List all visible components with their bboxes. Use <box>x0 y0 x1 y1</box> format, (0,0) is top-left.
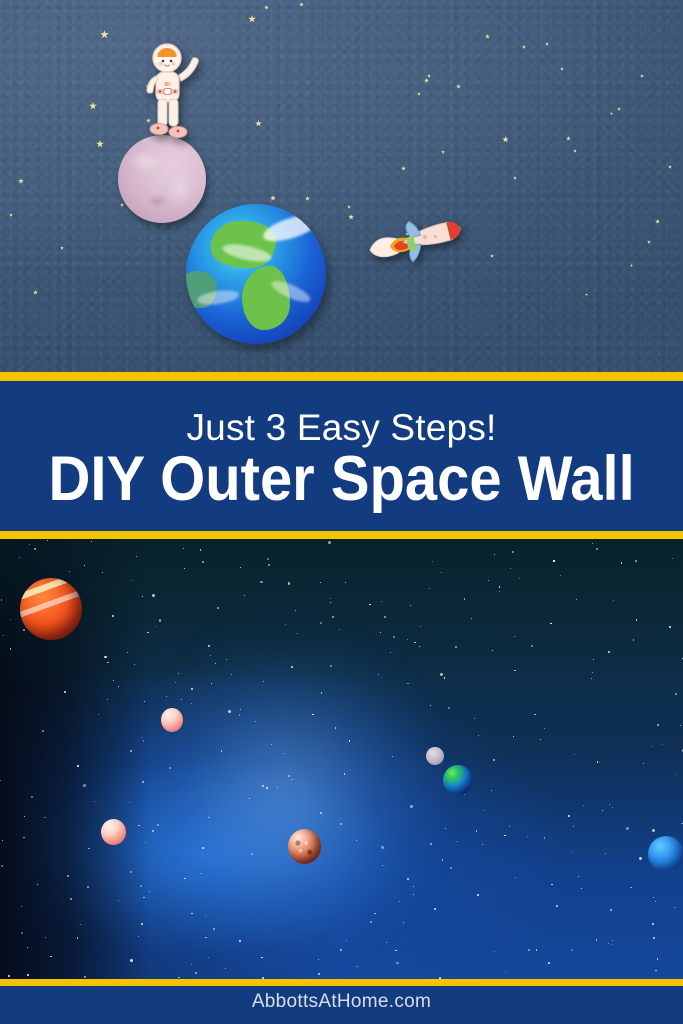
star-decal <box>640 74 644 78</box>
star <box>492 650 493 651</box>
star <box>184 568 185 569</box>
star <box>653 897 654 898</box>
star <box>544 728 545 729</box>
star-decal <box>560 67 564 71</box>
star <box>635 560 637 562</box>
star <box>403 922 404 923</box>
star-decal <box>305 196 310 201</box>
star-decal <box>120 203 124 207</box>
star <box>548 962 550 964</box>
star <box>27 974 29 976</box>
star <box>556 905 558 907</box>
star <box>195 972 197 974</box>
star <box>639 857 642 860</box>
star <box>312 714 313 715</box>
star <box>527 836 528 837</box>
star <box>291 779 292 780</box>
star <box>142 781 143 782</box>
star <box>356 840 357 841</box>
star <box>215 663 216 664</box>
star <box>335 727 336 728</box>
star <box>643 763 644 764</box>
star <box>266 787 268 789</box>
star <box>157 824 159 826</box>
moon-decal <box>118 135 206 223</box>
star <box>261 957 262 958</box>
star <box>320 812 322 814</box>
star <box>184 878 185 879</box>
star <box>494 554 495 555</box>
star <box>10 619 11 620</box>
star <box>381 846 384 849</box>
star <box>407 878 409 880</box>
star <box>396 962 399 965</box>
star <box>674 907 675 908</box>
star <box>531 645 533 647</box>
star <box>410 805 413 808</box>
star <box>583 805 584 806</box>
planet-jupiter <box>20 578 82 640</box>
star <box>610 909 612 911</box>
star <box>636 619 637 620</box>
star-decal <box>610 112 613 115</box>
star <box>104 656 107 659</box>
star <box>568 815 570 817</box>
star <box>514 636 515 637</box>
star-decal <box>270 195 276 201</box>
star <box>255 721 256 722</box>
star <box>611 944 612 945</box>
star-decal <box>89 102 97 110</box>
star <box>208 957 209 958</box>
star <box>205 937 206 938</box>
star <box>330 598 331 599</box>
star <box>155 626 156 627</box>
star <box>407 639 408 640</box>
star <box>21 932 23 934</box>
star <box>239 714 240 715</box>
star <box>69 571 70 572</box>
star <box>37 884 38 885</box>
star-decal <box>299 2 304 7</box>
star <box>413 886 414 887</box>
star <box>262 785 264 787</box>
pinterest-pin-graphic: Just 3 Easy Steps! DIY Outer Space Wall <box>0 0 683 1024</box>
star <box>544 837 545 838</box>
star <box>175 682 176 683</box>
star <box>571 852 572 853</box>
star <box>675 774 676 775</box>
planet-mars <box>288 829 321 864</box>
star <box>445 828 446 829</box>
star <box>493 759 495 761</box>
star-decal <box>502 136 509 143</box>
star <box>27 947 28 948</box>
star <box>295 610 296 611</box>
star <box>178 673 179 674</box>
star <box>429 588 430 589</box>
banner-bottom-rule <box>0 531 683 539</box>
star <box>448 707 450 709</box>
star <box>318 959 319 960</box>
star <box>134 664 135 665</box>
star <box>515 877 516 878</box>
star-decal <box>513 176 517 180</box>
star <box>91 541 92 542</box>
star <box>514 670 515 671</box>
star <box>651 746 652 747</box>
star <box>633 639 634 640</box>
star <box>251 853 253 855</box>
banner-top-rule <box>0 372 683 381</box>
star <box>578 876 579 877</box>
star <box>142 596 143 597</box>
star <box>597 761 598 762</box>
banner-subtitle: Just 3 Easy Steps! <box>186 409 496 446</box>
star-decal <box>248 15 256 23</box>
star <box>512 551 514 553</box>
star <box>430 843 432 845</box>
star <box>1 865 3 867</box>
star <box>442 859 443 860</box>
star <box>263 681 264 682</box>
star <box>370 921 372 923</box>
star <box>226 659 227 660</box>
star <box>130 750 132 752</box>
star <box>382 865 383 866</box>
star <box>8 975 10 977</box>
star <box>346 940 347 941</box>
star <box>112 615 114 617</box>
star <box>652 829 655 832</box>
star-decal <box>401 166 406 171</box>
star-decal <box>427 74 431 78</box>
star <box>499 586 500 587</box>
star <box>380 632 381 633</box>
star <box>10 648 11 649</box>
star-decal <box>60 246 64 250</box>
star <box>67 875 69 877</box>
star-decal <box>655 219 660 224</box>
star <box>138 825 139 826</box>
astronaut-decal <box>140 42 200 140</box>
star <box>574 754 575 755</box>
planet-moon-small <box>426 747 444 765</box>
star <box>244 595 245 596</box>
star <box>680 725 681 726</box>
star <box>21 906 22 907</box>
star <box>630 887 631 888</box>
star-decal <box>441 150 445 154</box>
star-decal <box>566 136 571 141</box>
star <box>320 622 322 624</box>
mural-starfield <box>0 539 683 979</box>
star <box>675 693 677 695</box>
star <box>450 867 452 869</box>
star <box>31 796 33 798</box>
star <box>45 937 46 938</box>
star-decal <box>33 290 38 295</box>
star <box>528 949 530 951</box>
star <box>143 897 144 898</box>
star <box>181 699 182 700</box>
star <box>505 972 506 973</box>
star <box>393 636 395 638</box>
star <box>288 582 291 585</box>
star-decal <box>617 107 621 111</box>
star-decal <box>668 165 672 169</box>
star <box>536 949 537 950</box>
star <box>657 724 659 726</box>
star <box>392 756 393 757</box>
star <box>80 924 81 925</box>
star <box>395 950 396 951</box>
star <box>410 605 411 606</box>
planet-pink-1 <box>161 708 183 732</box>
star-decal <box>545 42 549 46</box>
footer-bar: AbbottsAtHome.com <box>0 979 683 1024</box>
star <box>0 780 1 781</box>
star <box>191 964 192 965</box>
star <box>24 816 25 817</box>
star <box>217 607 219 609</box>
star <box>553 560 554 561</box>
star <box>143 740 144 741</box>
star <box>318 973 320 975</box>
star <box>345 582 346 583</box>
star <box>130 959 133 962</box>
star <box>132 580 133 581</box>
footer-top-rule <box>0 979 683 986</box>
star <box>107 699 108 700</box>
star <box>504 835 505 836</box>
star <box>441 572 442 573</box>
star <box>399 901 400 902</box>
star-decal <box>100 30 109 39</box>
star <box>84 565 85 566</box>
star <box>471 618 472 619</box>
star <box>540 739 541 740</box>
star-decal <box>348 214 354 220</box>
star <box>47 540 48 541</box>
star <box>328 541 331 544</box>
star <box>420 626 421 627</box>
star-decal <box>647 240 651 244</box>
star <box>413 894 414 895</box>
star <box>386 942 387 943</box>
star <box>474 718 475 719</box>
star <box>655 970 656 971</box>
star <box>130 871 132 873</box>
star <box>29 544 30 545</box>
star <box>228 710 231 713</box>
star-decal <box>585 293 588 296</box>
star <box>374 913 375 914</box>
star <box>239 940 241 942</box>
star <box>340 949 342 951</box>
star <box>339 629 340 630</box>
star <box>191 913 192 914</box>
star <box>440 673 443 676</box>
star <box>332 616 334 618</box>
star <box>70 898 72 900</box>
star <box>609 804 610 805</box>
star <box>211 683 212 684</box>
star <box>141 923 143 925</box>
star <box>652 923 654 925</box>
star <box>621 562 622 563</box>
title-banner: Just 3 Easy Steps! DIY Outer Space Wall <box>0 372 683 539</box>
star <box>499 591 500 592</box>
star-decal <box>630 264 633 267</box>
star <box>519 578 520 579</box>
star <box>145 842 146 843</box>
star <box>407 683 408 684</box>
star-decal <box>347 205 351 209</box>
star <box>477 894 479 896</box>
star <box>50 956 51 957</box>
star <box>147 632 148 633</box>
planet-pink-2 <box>101 819 126 845</box>
star-decal <box>255 120 262 127</box>
star <box>513 736 514 737</box>
star-decal <box>485 34 490 39</box>
star-decal <box>490 254 494 258</box>
star <box>3 635 4 636</box>
star-decal-group <box>0 0 683 372</box>
star <box>662 744 663 745</box>
star <box>149 891 150 892</box>
star <box>83 784 86 787</box>
star <box>208 645 210 647</box>
star <box>681 823 682 824</box>
star <box>23 629 25 631</box>
star <box>107 662 108 663</box>
banner-headline: DIY Outer Space Wall <box>48 448 634 511</box>
star <box>118 686 119 687</box>
star <box>77 765 78 766</box>
star <box>384 616 386 618</box>
star <box>169 767 171 769</box>
star <box>118 900 119 901</box>
star <box>592 543 593 544</box>
star <box>390 652 391 653</box>
star <box>260 581 263 584</box>
star <box>551 884 552 885</box>
star <box>77 937 78 938</box>
star-decal <box>424 78 429 83</box>
star <box>432 561 433 562</box>
star <box>491 790 492 791</box>
earth-decal <box>186 204 326 344</box>
star <box>268 564 269 565</box>
star <box>231 674 232 675</box>
star <box>457 841 458 842</box>
star <box>626 827 629 830</box>
star <box>672 558 673 559</box>
star <box>183 548 184 549</box>
star <box>488 580 489 581</box>
star <box>191 703 192 704</box>
star <box>349 740 350 741</box>
star <box>444 677 445 678</box>
star <box>166 696 167 697</box>
star <box>267 558 269 560</box>
star <box>344 773 345 774</box>
star <box>602 810 603 811</box>
star <box>340 823 342 825</box>
star <box>320 582 321 583</box>
star <box>596 939 597 940</box>
star <box>657 958 658 959</box>
star <box>87 886 89 888</box>
star <box>430 705 431 706</box>
star <box>434 908 436 910</box>
star <box>297 633 298 634</box>
star <box>591 678 592 679</box>
star <box>476 830 477 831</box>
star <box>484 810 485 811</box>
star <box>205 915 206 916</box>
star <box>592 672 593 673</box>
star <box>560 575 561 576</box>
star <box>378 674 379 675</box>
star <box>200 549 201 550</box>
star <box>414 642 415 643</box>
star <box>225 968 226 969</box>
star <box>653 937 655 939</box>
star <box>249 798 250 799</box>
star <box>478 735 479 736</box>
star <box>2 840 3 841</box>
star <box>240 567 241 568</box>
star-decal <box>18 178 24 184</box>
star <box>159 619 162 622</box>
star <box>34 548 36 550</box>
star-decal <box>264 5 269 10</box>
star <box>419 646 420 647</box>
star <box>510 568 511 569</box>
star <box>201 873 202 874</box>
star <box>152 830 153 831</box>
star <box>509 826 510 827</box>
star <box>42 730 44 732</box>
star <box>596 548 598 550</box>
star <box>202 561 204 563</box>
star <box>271 744 272 745</box>
rocket-decal <box>368 216 468 274</box>
star <box>288 775 290 777</box>
star <box>612 940 613 941</box>
star <box>464 598 465 599</box>
bottom-photo-space-mural <box>0 539 683 979</box>
star <box>291 666 293 668</box>
star <box>482 844 483 845</box>
star <box>44 817 45 818</box>
star <box>612 807 613 808</box>
star <box>550 623 551 624</box>
star <box>599 762 600 763</box>
star <box>571 949 573 951</box>
star <box>277 787 278 788</box>
star <box>102 572 103 573</box>
star <box>94 801 95 802</box>
star <box>369 604 370 605</box>
star <box>138 936 139 937</box>
star <box>573 826 574 827</box>
star <box>98 714 99 715</box>
top-photo-wall-decals <box>0 0 683 372</box>
